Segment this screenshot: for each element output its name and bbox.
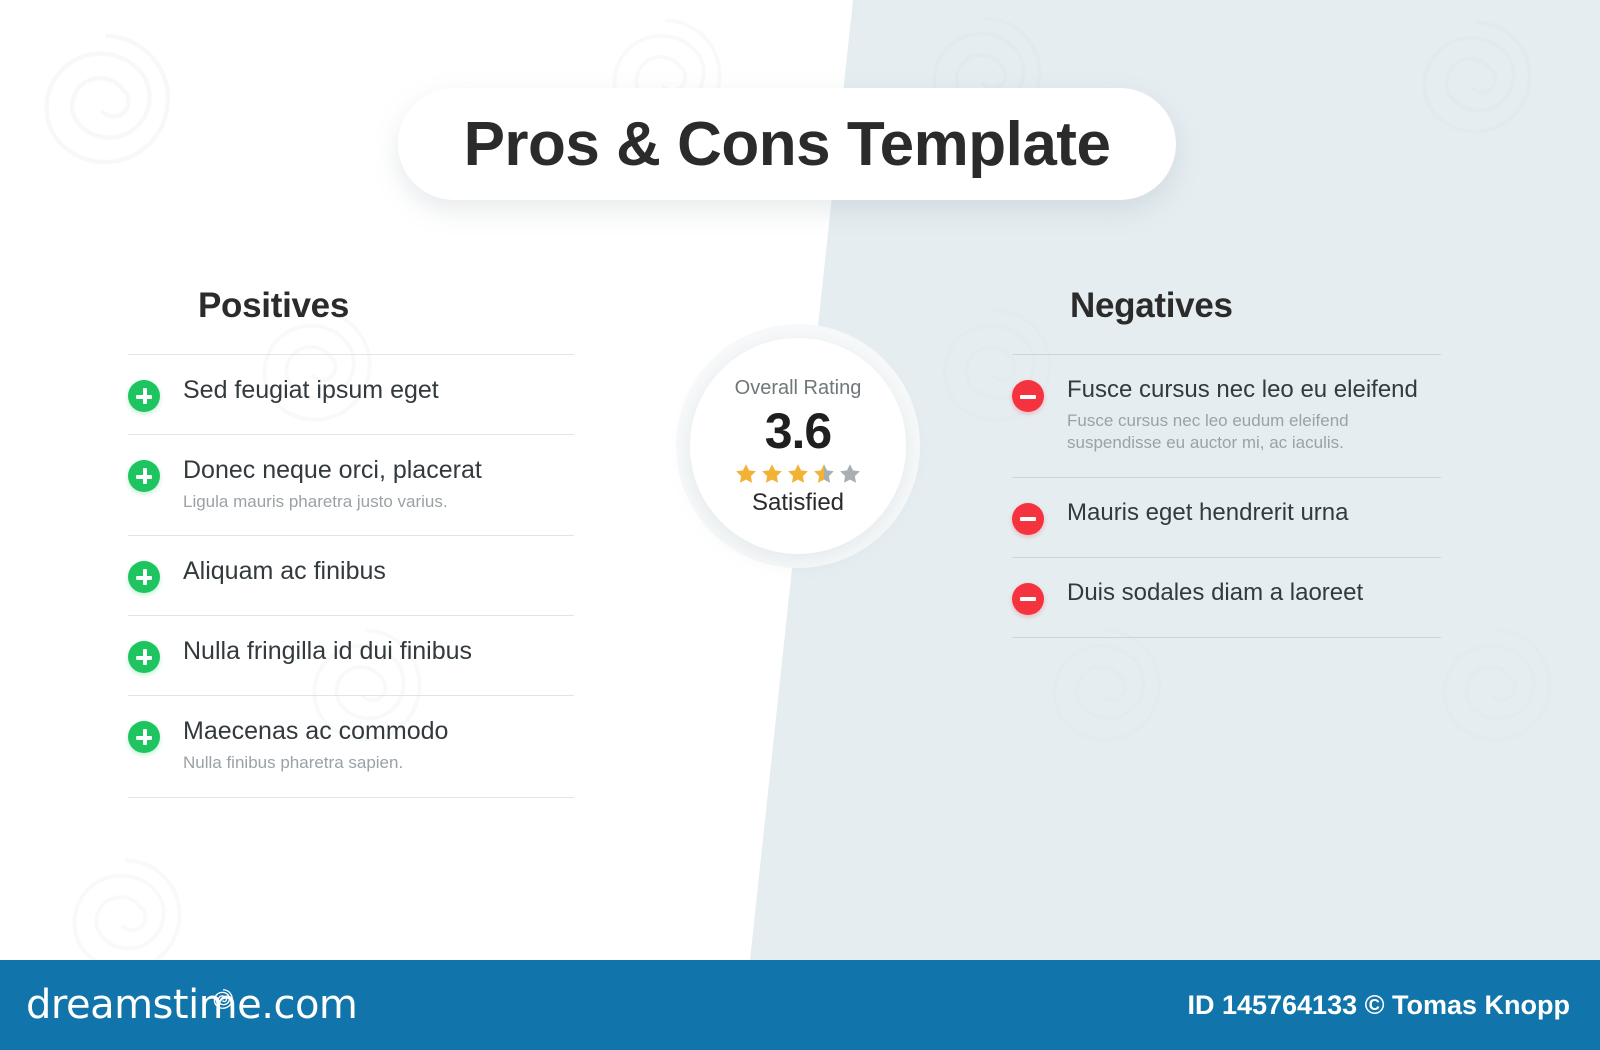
list-item-body: Duis sodales diam a laoreet: [1067, 580, 1441, 606]
list-item[interactable]: Aliquam ac finibus: [128, 536, 574, 615]
negatives-heading: Negatives: [1070, 286, 1441, 326]
page-title: Pros & Cons Template: [464, 109, 1111, 180]
stock-footer-bar: dreamstime.com ID 145764133 © Tomas Knop…: [0, 960, 1600, 1050]
star-icon: [760, 462, 784, 486]
plus-icon: [128, 721, 160, 753]
list-item-title: Mauris eget hendrerit urna: [1067, 500, 1441, 526]
list-item[interactable]: Fusce cursus nec leo eu eleifend Fusce c…: [1012, 355, 1441, 477]
rating-score: 3.6: [765, 404, 832, 458]
divider: [128, 797, 574, 798]
list-item[interactable]: Sed feugiat ipsum eget: [128, 355, 574, 434]
list-item-title: Donec neque orci, placerat: [183, 457, 574, 484]
plus-icon: [128, 380, 160, 412]
list-item-title: Nulla fringilla id dui finibus: [183, 638, 574, 665]
list-item-body: Nulla fringilla id dui finibus: [183, 638, 574, 665]
list-item-body: Fusce cursus nec leo eu eleifend Fusce c…: [1067, 377, 1441, 455]
positives-heading: Positives: [198, 286, 574, 326]
minus-icon: [1012, 583, 1044, 615]
list-item[interactable]: Nulla fringilla id dui finibus: [128, 616, 574, 695]
list-item[interactable]: Duis sodales diam a laoreet: [1012, 558, 1441, 637]
plus-icon: [128, 641, 160, 673]
plus-icon: [128, 561, 160, 593]
minus-icon: [1012, 380, 1044, 412]
dreamstime-logo[interactable]: dreamstime.com: [26, 982, 357, 1028]
list-item-title: Maecenas ac commodo: [183, 718, 574, 745]
spiral-logo-icon: [212, 974, 234, 1020]
overall-rating-card: Overall Rating 3.6: [690, 338, 906, 554]
rating-caption: Satisfied: [752, 491, 844, 515]
star-rating: [734, 462, 862, 486]
positives-column: Positives Sed feugiat ipsum eget Donec n…: [128, 286, 574, 798]
list-item-body: Mauris eget hendrerit urna: [1067, 500, 1441, 526]
rating-label: Overall Rating: [735, 378, 862, 398]
negatives-column: Negatives Fusce cursus nec leo eu eleife…: [1012, 286, 1441, 638]
title-banner: Pros & Cons Template: [398, 88, 1176, 200]
star-icon: [786, 462, 810, 486]
plus-icon: [128, 460, 160, 492]
list-item[interactable]: Mauris eget hendrerit urna: [1012, 478, 1441, 557]
dreamstime-logo-text: dreamstime.com: [26, 982, 357, 1028]
list-item-body: Maecenas ac commodo Nulla finibus pharet…: [183, 718, 574, 774]
list-item-title: Fusce cursus nec leo eu eleifend: [1067, 377, 1441, 403]
list-item-subtitle: Nulla finibus pharetra sapien.: [183, 752, 574, 774]
star-icon: [838, 462, 862, 486]
list-item[interactable]: Donec neque orci, placerat Ligula mauris…: [128, 435, 574, 535]
image-credit: ID 145764133 © Tomas Knopp: [1187, 990, 1570, 1021]
list-item-body: Sed feugiat ipsum eget: [183, 377, 574, 404]
list-item[interactable]: Maecenas ac commodo Nulla finibus pharet…: [128, 696, 574, 796]
list-item-subtitle: Ligula mauris pharetra justo varius.: [183, 491, 574, 513]
poster-canvas: Pros & Cons Template Positives Sed feugi…: [0, 0, 1600, 1050]
star-half-icon: [812, 462, 836, 486]
list-item-title: Sed feugiat ipsum eget: [183, 377, 574, 404]
list-item-title: Duis sodales diam a laoreet: [1067, 580, 1441, 606]
list-item-body: Aliquam ac finibus: [183, 558, 574, 585]
star-icon: [734, 462, 758, 486]
divider: [1012, 637, 1441, 638]
list-item-subtitle: Fusce cursus nec leo eudum eleifend susp…: [1067, 410, 1397, 455]
minus-icon: [1012, 503, 1044, 535]
list-item-body: Donec neque orci, placerat Ligula mauris…: [183, 457, 574, 513]
list-item-title: Aliquam ac finibus: [183, 558, 574, 585]
